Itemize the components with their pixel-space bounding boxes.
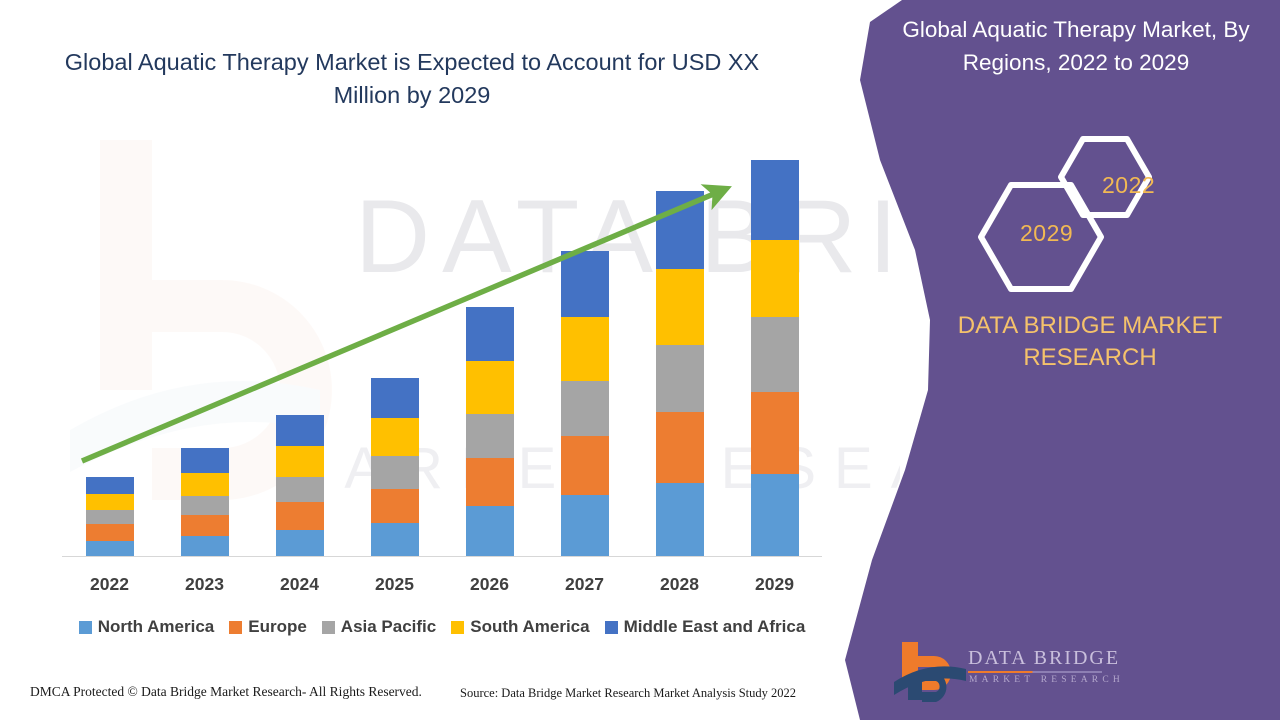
bar-segment-2022-asia-pacific <box>86 510 134 524</box>
bar-segment-2028-asia-pacific <box>656 345 704 411</box>
copyright-text: DMCA Protected © Data Bridge Market Rese… <box>30 684 422 700</box>
bar-segment-2022-north-america <box>86 541 134 557</box>
bar-2022[interactable] <box>86 477 134 557</box>
x-axis-label-2025: 2025 <box>350 574 440 595</box>
bar-segment-2023-europe <box>181 515 229 535</box>
legend-item-middle-east-and-africa[interactable]: Middle East and Africa <box>605 617 806 637</box>
bar-segment-2028-south-america <box>656 269 704 345</box>
bar-segment-2023-asia-pacific <box>181 496 229 515</box>
bar-segment-2023-north-america <box>181 536 229 557</box>
chart-panel: DATA BRIDGE MARKET RESEARCH Global Aquat… <box>0 0 900 720</box>
bar-segment-2024-south-america <box>276 446 324 477</box>
logo-divider <box>968 671 1102 673</box>
bar-segment-2029-asia-pacific <box>751 317 799 392</box>
bar-segment-2025-europe <box>371 489 419 524</box>
bar-segment-2029-middle-east-and-africa <box>751 160 799 239</box>
logo-subtext: MARKET RESEARCH <box>969 676 1124 686</box>
bar-segment-2026-europe <box>466 458 514 506</box>
x-axis-label-2029: 2029 <box>730 574 820 595</box>
chart-title: Global Aquatic Therapy Market is Expecte… <box>62 46 762 113</box>
legend-swatch-icon <box>322 621 335 634</box>
bar-segment-2022-south-america <box>86 494 134 510</box>
legend-swatch-icon <box>79 621 92 634</box>
panel-title: Global Aquatic Therapy Market, By Region… <box>880 14 1272 79</box>
x-axis-label-2023: 2023 <box>160 574 250 595</box>
legend-label: Europe <box>248 617 307 637</box>
legend-label: Asia Pacific <box>341 617 436 637</box>
logo-wordmark: DATA BRIDGE <box>968 648 1120 668</box>
legend-item-south-america[interactable]: South America <box>451 617 589 637</box>
chart-legend: North AmericaEuropeAsia PacificSouth Ame… <box>62 617 822 637</box>
bar-segment-2028-north-america <box>656 483 704 557</box>
bar-segment-2025-north-america <box>371 523 419 557</box>
bar-segment-2026-south-america <box>466 361 514 414</box>
hexagon-label-2022: 2022 <box>1102 172 1155 199</box>
bar-segment-2029-europe <box>751 392 799 473</box>
legend-item-europe[interactable]: Europe <box>229 617 307 637</box>
x-axis-label-2022: 2022 <box>65 574 155 595</box>
hexagon-badges <box>975 135 1185 300</box>
bar-segment-2025-south-america <box>371 418 419 457</box>
bar-segment-2024-europe <box>276 502 324 529</box>
x-axis-line <box>62 556 822 557</box>
x-axis-label-2027: 2027 <box>540 574 630 595</box>
x-axis-label-2026: 2026 <box>445 574 535 595</box>
bar-2024[interactable] <box>276 415 324 557</box>
stacked-bar-chart <box>62 150 822 557</box>
bar-segment-2029-south-america <box>751 240 799 317</box>
x-axis-label-2028: 2028 <box>635 574 725 595</box>
bar-segment-2028-europe <box>656 412 704 483</box>
bar-2027[interactable] <box>561 251 609 557</box>
bar-segment-2026-middle-east-and-africa <box>466 307 514 361</box>
bar-segment-2024-asia-pacific <box>276 477 324 502</box>
bar-segment-2025-middle-east-and-africa <box>371 378 419 418</box>
legend-item-north-america[interactable]: North America <box>79 617 215 637</box>
bar-2029[interactable] <box>751 160 799 557</box>
hexagon-label-2029: 2029 <box>1020 220 1073 247</box>
bar-segment-2026-north-america <box>466 506 514 557</box>
bar-segment-2024-north-america <box>276 530 324 557</box>
infographic-slide: DATA BRIDGE MARKET RESEARCH Global Aquat… <box>0 0 1280 720</box>
bar-segment-2023-middle-east-and-africa <box>181 448 229 472</box>
x-axis-labels: 20222023202420252026202720282029 <box>62 574 822 600</box>
source-text: Source: Data Bridge Market Research Mark… <box>460 686 796 701</box>
bar-segment-2027-south-america <box>561 317 609 381</box>
bar-segment-2022-middle-east-and-africa <box>86 477 134 494</box>
bar-2026[interactable] <box>466 307 514 557</box>
bar-segment-2023-south-america <box>181 473 229 496</box>
legend-swatch-icon <box>451 621 464 634</box>
bar-segment-2029-north-america <box>751 474 799 557</box>
bar-segment-2025-asia-pacific <box>371 456 419 489</box>
bar-segment-2024-middle-east-and-africa <box>276 415 324 447</box>
bar-segment-2027-middle-east-and-africa <box>561 251 609 317</box>
bar-2023[interactable] <box>181 448 229 557</box>
bar-2025[interactable] <box>371 378 419 557</box>
bar-segment-2028-middle-east-and-africa <box>656 191 704 269</box>
bar-segment-2027-north-america <box>561 495 609 557</box>
legend-label: Middle East and Africa <box>624 617 806 637</box>
x-axis-label-2024: 2024 <box>255 574 345 595</box>
bar-segment-2027-europe <box>561 436 609 495</box>
brand-name: DATA BRIDGE MARKET RESEARCH <box>940 310 1240 374</box>
bar-segment-2027-asia-pacific <box>561 381 609 436</box>
legend-swatch-icon <box>229 621 242 634</box>
bar-segment-2026-asia-pacific <box>466 414 514 459</box>
legend-label: South America <box>470 617 589 637</box>
legend-item-asia-pacific[interactable]: Asia Pacific <box>322 617 436 637</box>
bar-segment-2022-europe <box>86 524 134 540</box>
bar-2028[interactable] <box>656 191 704 557</box>
legend-swatch-icon <box>605 621 618 634</box>
legend-label: North America <box>98 617 215 637</box>
